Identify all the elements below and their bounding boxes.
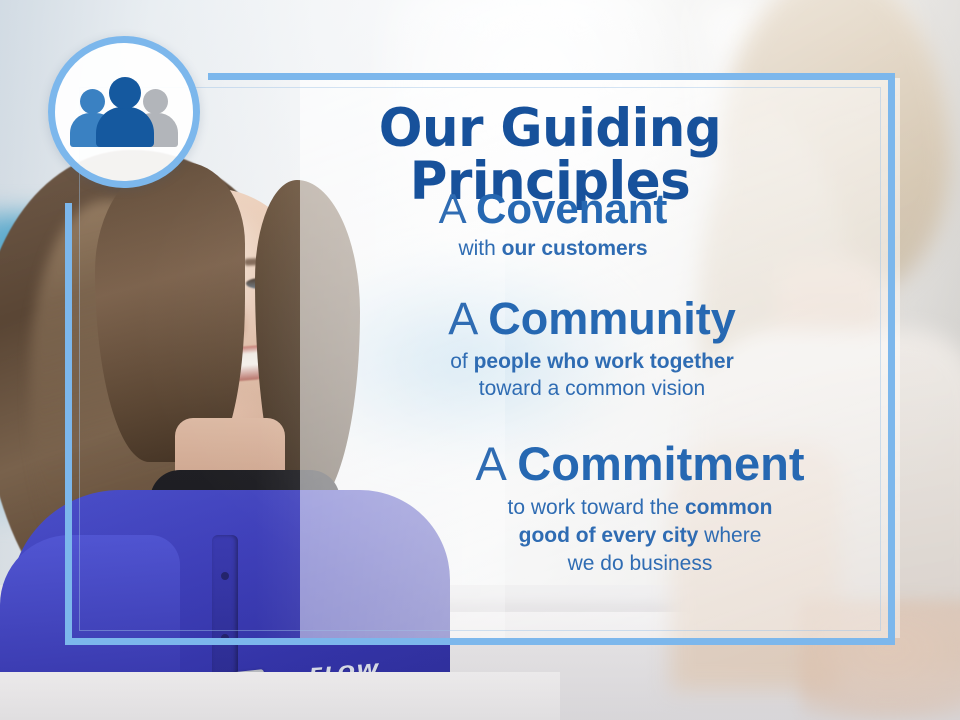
person-right-head-icon bbox=[143, 89, 168, 114]
community-sub-plain-1: of bbox=[450, 350, 473, 373]
principle-commitment-sub-line-2: good of every city where bbox=[380, 522, 900, 550]
guiding-principles-graphic: FLOW FLOW bbox=[0, 0, 960, 720]
principle-covenant-sub-line-1: with our customers bbox=[206, 235, 900, 263]
principle-covenant-article: A bbox=[439, 185, 476, 232]
principle-community-article: A bbox=[448, 293, 488, 344]
people-group-icon bbox=[70, 77, 178, 147]
principle-commitment-heading: A Commitment bbox=[380, 439, 900, 490]
commitment-sub-bold-1: common bbox=[685, 496, 773, 519]
commitment-sub-plain-1: to work toward the bbox=[508, 496, 685, 519]
principle-commitment-article: A bbox=[475, 437, 517, 490]
covenant-sub-bold-1: our customers bbox=[502, 237, 648, 260]
person-center-head-icon bbox=[109, 77, 141, 109]
person-left-head-icon bbox=[80, 89, 105, 114]
principle-covenant: A Covenant with our customers bbox=[200, 186, 900, 263]
principle-commitment-keyword: Commitment bbox=[517, 437, 804, 490]
principle-commitment-sub-line-3: we do business bbox=[380, 550, 900, 578]
principle-covenant-heading: A Covenant bbox=[206, 186, 900, 231]
commitment-sub-plain-3: we do business bbox=[568, 552, 713, 575]
principle-community: A Community of people who work together … bbox=[200, 295, 900, 403]
principle-commitment: A Commitment to work toward the common g… bbox=[200, 439, 900, 578]
community-sub-plain-2: toward a common vision bbox=[479, 377, 705, 400]
commitment-sub-plain-2: where bbox=[698, 524, 761, 547]
community-sub-bold-1: people who work together bbox=[474, 350, 734, 373]
principle-community-heading: A Community bbox=[284, 295, 900, 344]
desk-surface-foreground bbox=[0, 672, 560, 720]
principle-community-sub-line-2: toward a common vision bbox=[284, 375, 900, 403]
person-center-body-icon bbox=[96, 107, 154, 147]
principles-list: A Covenant with our customers A Communit… bbox=[200, 186, 900, 588]
principle-covenant-keyword: Covenant bbox=[476, 185, 667, 232]
principle-community-keyword: Community bbox=[488, 293, 736, 344]
people-group-badge bbox=[48, 36, 200, 188]
commitment-sub-bold-2: good of every city bbox=[519, 524, 699, 547]
covenant-sub-plain-1: with bbox=[458, 237, 501, 260]
principle-community-sub-line-1: of people who work together bbox=[284, 348, 900, 376]
principle-commitment-sub-line-1: to work toward the common bbox=[380, 494, 900, 522]
text-content: Our Guiding Principles A Covenant with o… bbox=[200, 80, 900, 640]
